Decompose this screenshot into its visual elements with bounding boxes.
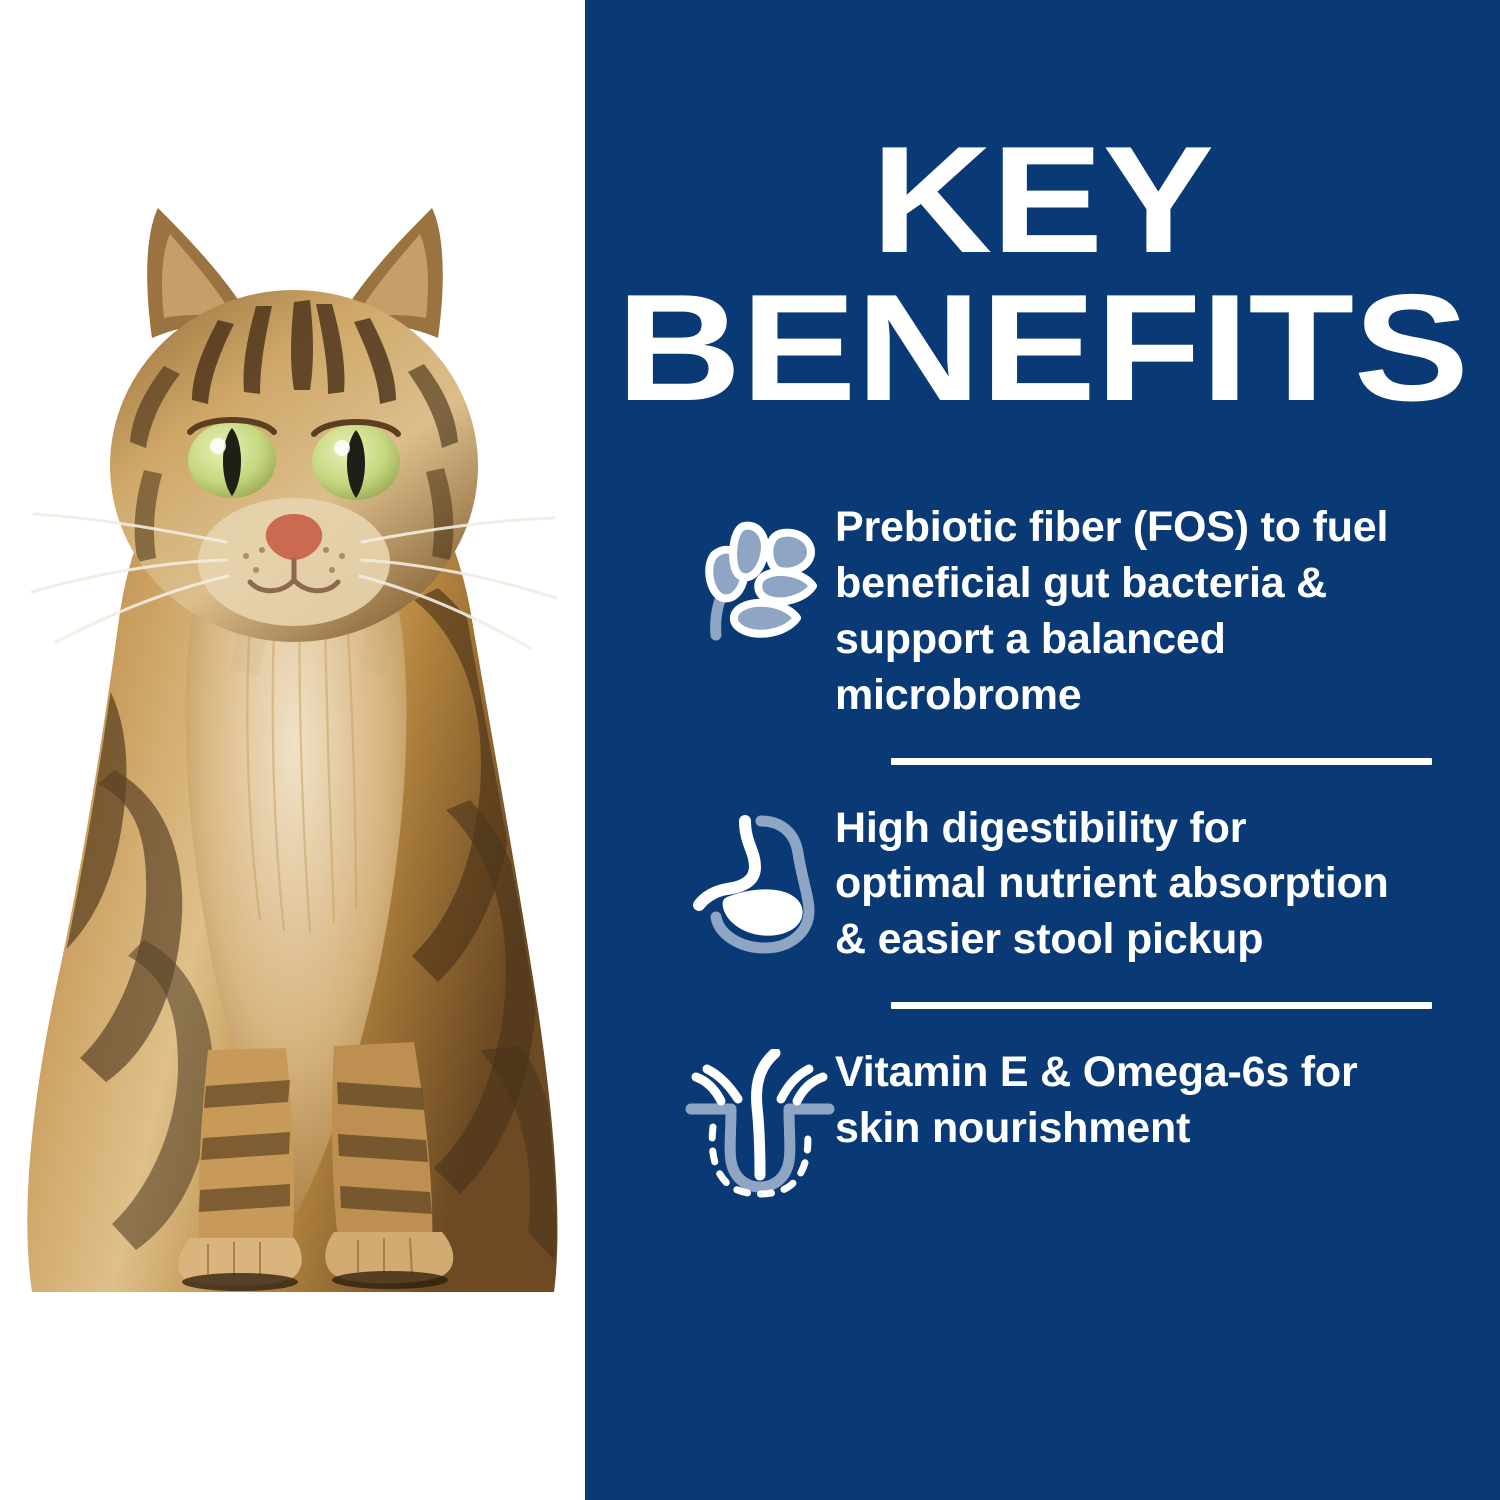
benefit-divider-1 [891,758,1432,765]
page-title: KEY BENEFITS [585,128,1500,421]
benefit-text: Prebiotic fiber (FOS) to fuel beneficial… [835,498,1395,724]
title-line-benefits: BENEFITS [521,276,1500,420]
benefit-item-high-digestibility: High digestibility for optimal nutrient … [585,799,1500,969]
hair-follicle-icon [685,1043,835,1193]
benefits-panel: KEY BENEFITS [585,0,1500,1500]
benefits-list: Prebiotic fiber (FOS) to fuel beneficial… [585,498,1500,1193]
benefit-text: Vitamin E & Omega-6s for skin nourishmen… [835,1043,1395,1157]
title-line-key: KEY [539,128,1500,272]
benefit-item-prebiotic-fiber: Prebiotic fiber (FOS) to fuel beneficial… [585,498,1500,724]
benefit-item-vitamin-e-omega: Vitamin E & Omega-6s for skin nourishmen… [585,1043,1500,1193]
benefit-divider-2 [891,1002,1432,1009]
cat-photo-panel [0,0,585,1500]
benefit-text: High digestibility for optimal nutrient … [835,799,1395,969]
leaf-sprig-icon [685,498,835,648]
cat-head [32,208,556,648]
key-benefits-infographic: KEY BENEFITS [0,0,1500,1500]
stomach-icon [685,799,835,949]
cat-illustration [0,170,585,1350]
cat-photo [0,0,585,1500]
